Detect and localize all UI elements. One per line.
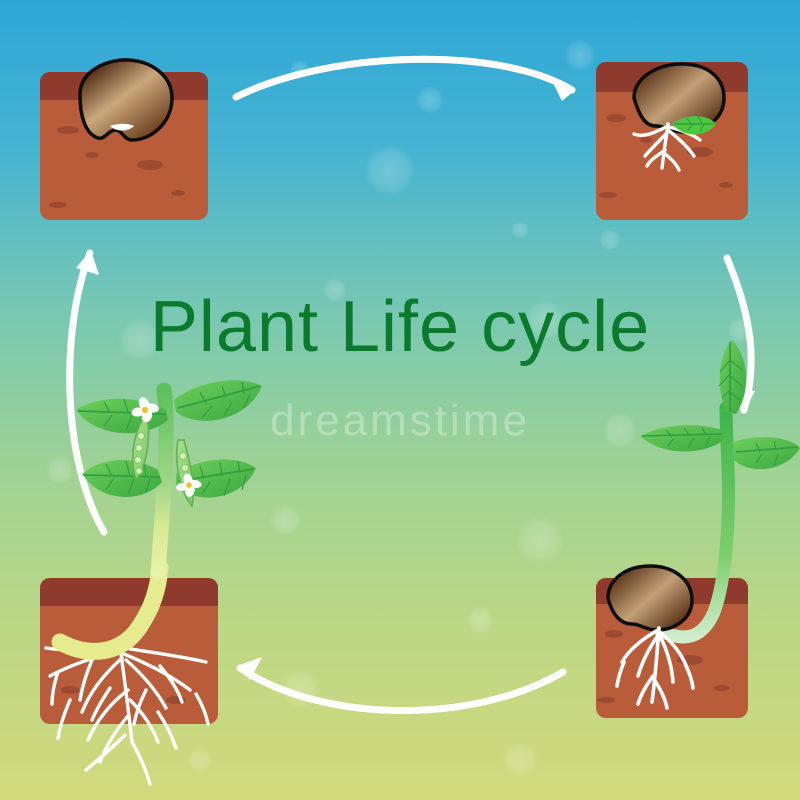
leaf-lower-left [82,460,162,497]
arrow-seedling-to-mature [237,657,563,711]
leaf-right [732,437,800,469]
stage-seedling[interactable] [596,340,800,718]
cycle-artwork [0,0,800,800]
soil-top-layer [40,578,218,606]
seedling-leaves [640,340,800,469]
plant-life-cycle-diagram: Plant Life cycle dreamstime [0,0,800,800]
flower-center [142,407,148,413]
stage-germinating-seed[interactable] [596,62,748,220]
seed-husk [608,566,692,630]
arrow-seed-to-germination [236,59,574,101]
leaf-upper-right [174,380,262,421]
leaf-left [640,425,724,451]
seed [80,60,172,140]
stage-seed-in-soil[interactable] [40,60,208,220]
flower-center [186,482,192,488]
